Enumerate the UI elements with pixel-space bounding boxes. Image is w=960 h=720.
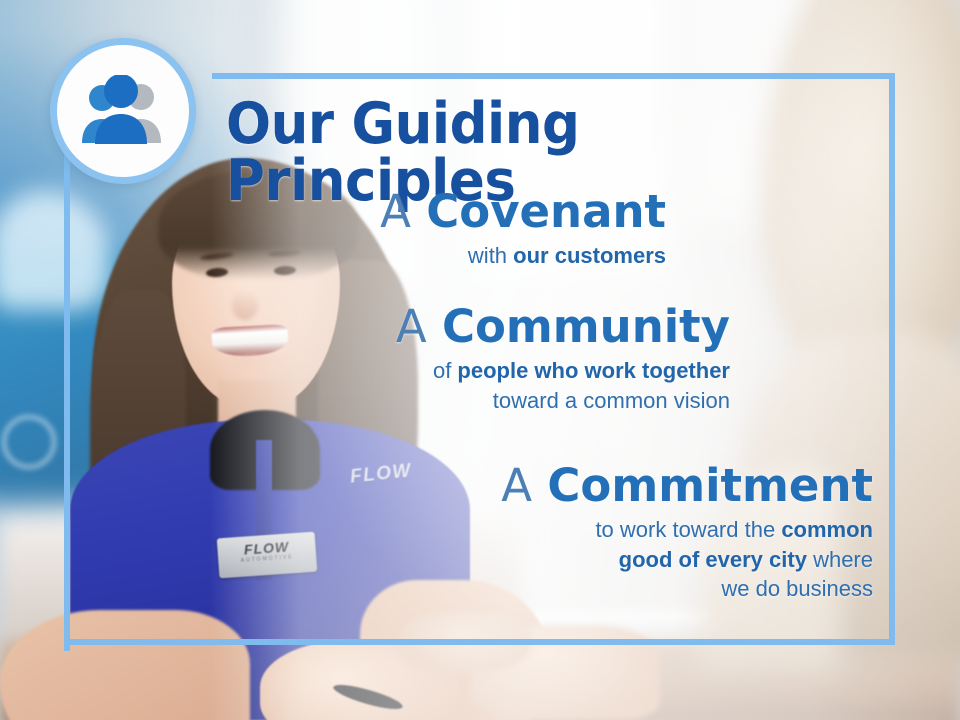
principle-heading: A Commitment [340, 462, 873, 509]
principle-subtext-line: to work toward the common [340, 515, 873, 544]
decorative-frame-bottom-extension [64, 639, 218, 645]
subtext-run-bold: good of every city [619, 547, 807, 572]
principle-keyword: Community [442, 300, 730, 353]
people-group-icon [75, 75, 171, 147]
principle-subtext: to work toward the common good of every … [340, 515, 873, 603]
principle-subtext: of people who work together toward a com… [300, 356, 730, 415]
principle-subtext-line: good of every city where [340, 545, 873, 574]
principle-commitment: A Commitment to work toward the common g… [340, 462, 873, 604]
principle-subtext-line: toward a common vision [300, 386, 730, 415]
subtext-run: with [468, 243, 513, 268]
decorative-frame-left-rule [64, 150, 70, 651]
subtext-run-bold: our customers [513, 243, 666, 268]
people-group-badge [50, 38, 196, 184]
subtext-run-bold: people who work together [457, 358, 730, 383]
guiding-principles-graphic: FLOW FLOW AUTOMOTIVE [0, 0, 960, 720]
principle-subtext-line: of people who work together [300, 356, 730, 385]
principle-article: A [396, 300, 428, 353]
subtext-run-bold: common [781, 517, 873, 542]
principle-keyword: Commitment [547, 459, 873, 512]
principle-keyword: Covenant [426, 185, 666, 238]
principle-heading: A Community [300, 303, 730, 350]
subtext-run: we do business [721, 576, 873, 601]
principle-subtext-line: we do business [340, 574, 873, 603]
principle-covenant: A Covenant with our customers [260, 188, 666, 271]
principle-subtext: with our customers [260, 241, 666, 270]
subtext-run: toward a common vision [493, 388, 730, 413]
principle-article: A [501, 459, 533, 512]
vw-emblem [2, 415, 56, 469]
subtext-run: to work toward the [595, 517, 781, 542]
principle-community: A Community of people who work together … [300, 303, 730, 415]
principle-subtext-line: with our customers [260, 241, 666, 270]
subtext-run: where [807, 547, 873, 572]
subtext-run: of [433, 358, 457, 383]
principle-article: A [380, 185, 412, 238]
principle-heading: A Covenant [260, 188, 666, 235]
